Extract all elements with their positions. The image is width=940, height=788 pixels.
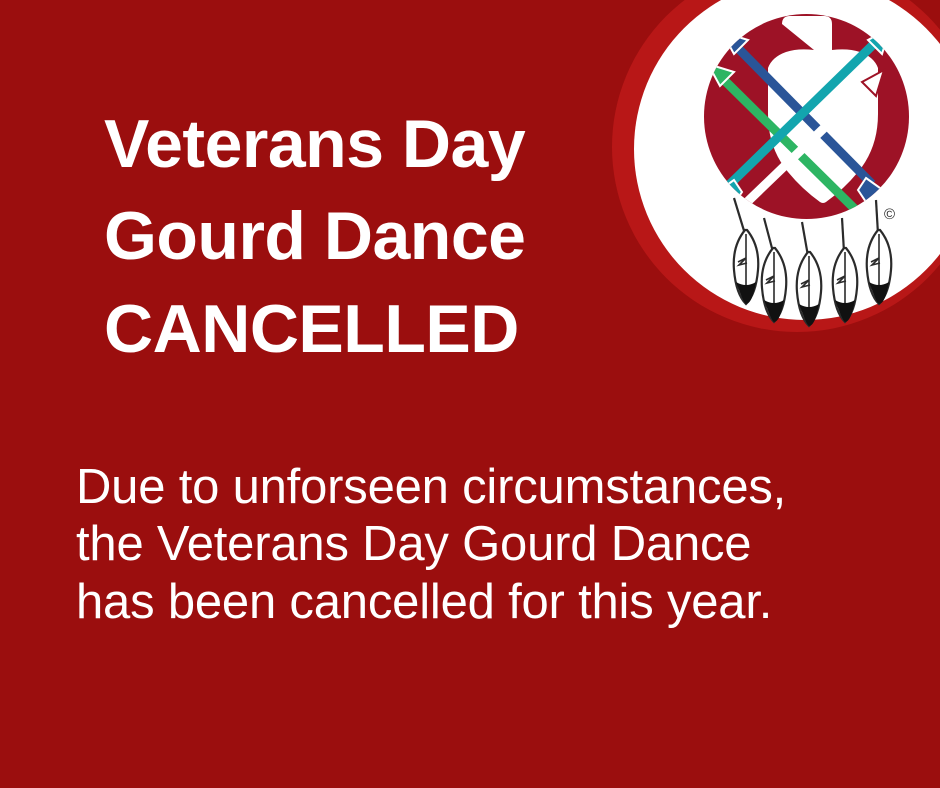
announcement-body: Due to unforseen circumstances, the Vete… bbox=[76, 459, 896, 631]
feather-4 bbox=[833, 218, 858, 322]
arrow-green bbox=[708, 64, 892, 254]
headline-line-3: CANCELLED bbox=[104, 283, 624, 375]
feather-1 bbox=[734, 198, 759, 304]
headline-line-2: Gourd Dance bbox=[104, 190, 624, 282]
tribal-seal-logo: © bbox=[612, 0, 940, 332]
logo-white-disc bbox=[634, 0, 940, 320]
feather-3 bbox=[797, 222, 822, 326]
body-line-1: Due to unforseen circumstances, bbox=[76, 459, 896, 516]
headline-line-1: Veterans Day bbox=[104, 98, 624, 190]
body-line-2: the Veterans Day Gourd Dance bbox=[76, 516, 896, 573]
shield-shape bbox=[768, 16, 878, 203]
arrows-group bbox=[696, 28, 894, 260]
poster-canvas: © Veterans Day Gourd Dance CANCELLED Due… bbox=[0, 0, 940, 788]
logo-outer-ring bbox=[612, 0, 940, 332]
arrow-blue bbox=[722, 32, 894, 214]
body-line-3: has been cancelled for this year. bbox=[76, 574, 896, 631]
page-title: Veterans Day Gourd Dance CANCELLED bbox=[104, 98, 624, 375]
arrow-white bbox=[696, 70, 884, 260]
arrow-teal bbox=[706, 28, 890, 216]
feather-2 bbox=[762, 218, 787, 322]
feather-5 bbox=[867, 200, 892, 304]
shield-group bbox=[768, 16, 878, 203]
feathers-group bbox=[734, 198, 892, 326]
logo-artwork bbox=[612, 0, 940, 332]
logo-inner-circle bbox=[704, 14, 909, 219]
copyright-icon: © bbox=[884, 207, 895, 222]
